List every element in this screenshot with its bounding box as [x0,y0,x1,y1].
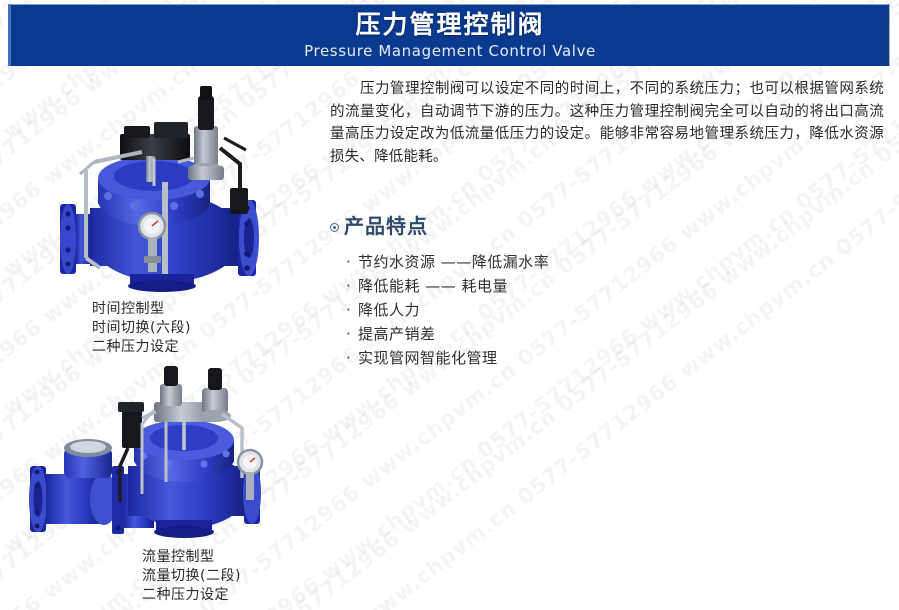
time-control-valve-photo [34,78,302,303]
product-photo-column: 时间控制型 时间切换(六段) 二种压力设定 [0,70,330,610]
product-features-section: 产品特点 ·节约水资源 ——降低漏水率·降低能耗 —— 耗电量·降低人力·提高产… [330,210,899,370]
features-list: ·节约水资源 ——降低漏水率·降低能耗 —— 耗电量·降低人力·提高产销差·实现… [330,250,899,370]
bullet-icon: · [346,346,358,370]
flow-control-valve-illustration [16,362,306,552]
time-control-valve-caption: 时间控制型 时间切换(六段) 二种压力设定 [92,300,191,357]
circle-dot-icon [330,223,339,232]
feature-item: ·降低人力 [346,298,899,322]
bullet-icon: · [346,274,358,298]
feature-item-label: 节约水资源 ——降低漏水率 [358,250,549,274]
features-heading: 产品特点 [330,210,899,239]
feature-item-label: 实现管网智能化管理 [358,346,498,370]
features-heading-label: 产品特点 [344,210,428,239]
feature-item: ·提高产销差 [346,322,899,346]
bullet-icon: · [346,322,358,346]
page-subtitle: Pressure Management Control Valve [304,42,596,60]
page-title: 压力管理控制阀 [355,11,544,39]
flow-control-valve-photo [16,362,306,552]
text-content-column: 压力管理控制阀可以设定不同的时间上，不同的系统压力；也可以根据管网系统的流量变化… [330,78,899,538]
feature-item: ·节约水资源 ——降低漏水率 [346,250,899,274]
feature-item-label: 降低能耗 —— 耗电量 [358,274,508,298]
product-description: 压力管理控制阀可以设定不同的时间上，不同的系统压力；也可以根据管网系统的流量变化… [330,78,884,168]
bullet-icon: · [346,250,358,274]
feature-item-label: 降低人力 [358,298,420,322]
feature-item: ·实现管网智能化管理 [346,346,899,370]
page-root: www.chpvm.cn 0577-57712966 www.chpvm.cn … [0,0,899,610]
bullet-icon: · [346,298,358,322]
time-control-valve-illustration [34,78,302,303]
flow-control-valve-caption: 流量控制型 流量切换(二段) 二种压力设定 [142,548,241,605]
feature-item-label: 提高产销差 [358,322,436,346]
page-header-banner: 压力管理控制阀 Pressure Management Control Valv… [8,4,890,66]
feature-item: ·降低能耗 —— 耗电量 [346,274,899,298]
